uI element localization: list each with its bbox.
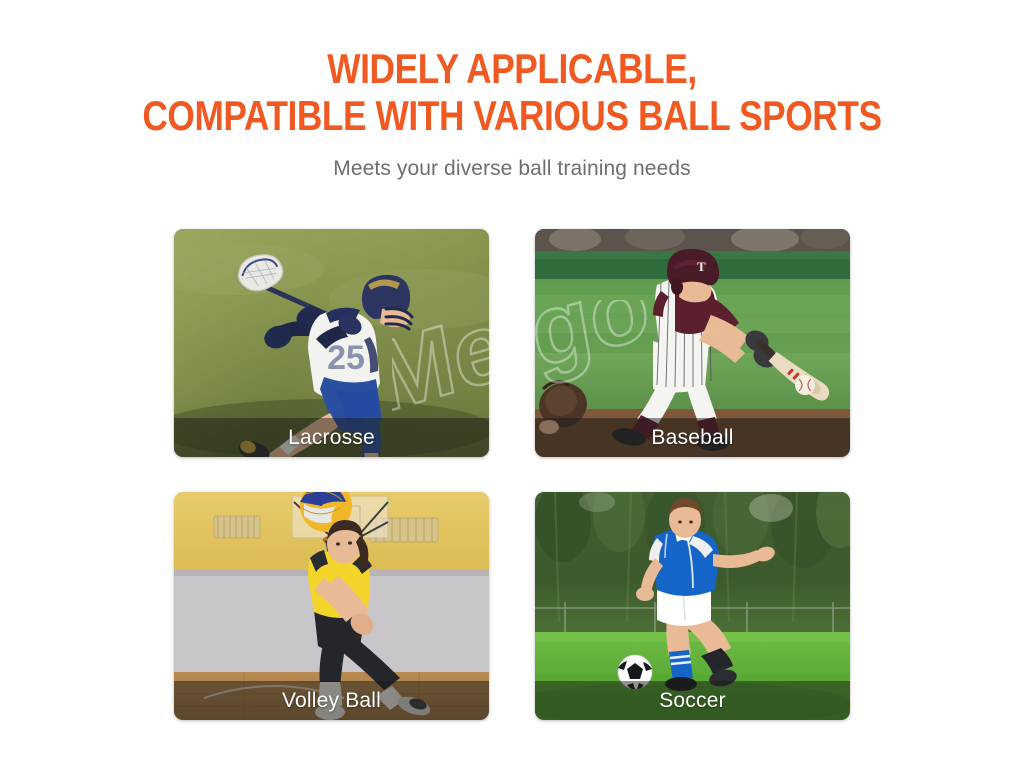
- headline-line-1: WIDELY APPLICABLE,: [82, 45, 942, 92]
- tile-caption-bar: Soccer: [535, 681, 850, 720]
- sport-tile-baseball[interactable]: T Baseball: [535, 229, 850, 457]
- headline-line-2: COMPATIBLE WITH VARIOUS BALL SPORTS: [82, 92, 942, 139]
- page-subtitle: Meets your diverse ball training needs: [0, 139, 1024, 181]
- sport-tile-volleyball[interactable]: Volley Ball: [174, 492, 489, 720]
- header: WIDELY APPLICABLE, COMPATIBLE WITH VARIO…: [0, 0, 1024, 181]
- sport-tile-lacrosse[interactable]: 25: [174, 229, 489, 457]
- tile-caption-bar: Baseball: [535, 418, 850, 457]
- tile-caption-label: Lacrosse: [288, 426, 375, 450]
- tile-caption-bar: Lacrosse: [174, 418, 489, 457]
- tile-caption-bar: Volley Ball: [174, 681, 489, 720]
- tile-caption-label: Baseball: [651, 426, 733, 450]
- tile-caption-label: Soccer: [659, 689, 726, 713]
- svg-text:25: 25: [327, 339, 365, 377]
- infographic-page: WIDELY APPLICABLE, COMPATIBLE WITH VARIO…: [0, 0, 1024, 768]
- svg-text:T: T: [697, 259, 706, 274]
- sports-tile-grid: 25: [174, 229, 850, 720]
- sport-tile-soccer[interactable]: Soccer: [535, 492, 850, 720]
- tile-caption-label: Volley Ball: [282, 689, 381, 713]
- page-title: WIDELY APPLICABLE, COMPATIBLE WITH VARIO…: [82, 0, 942, 139]
